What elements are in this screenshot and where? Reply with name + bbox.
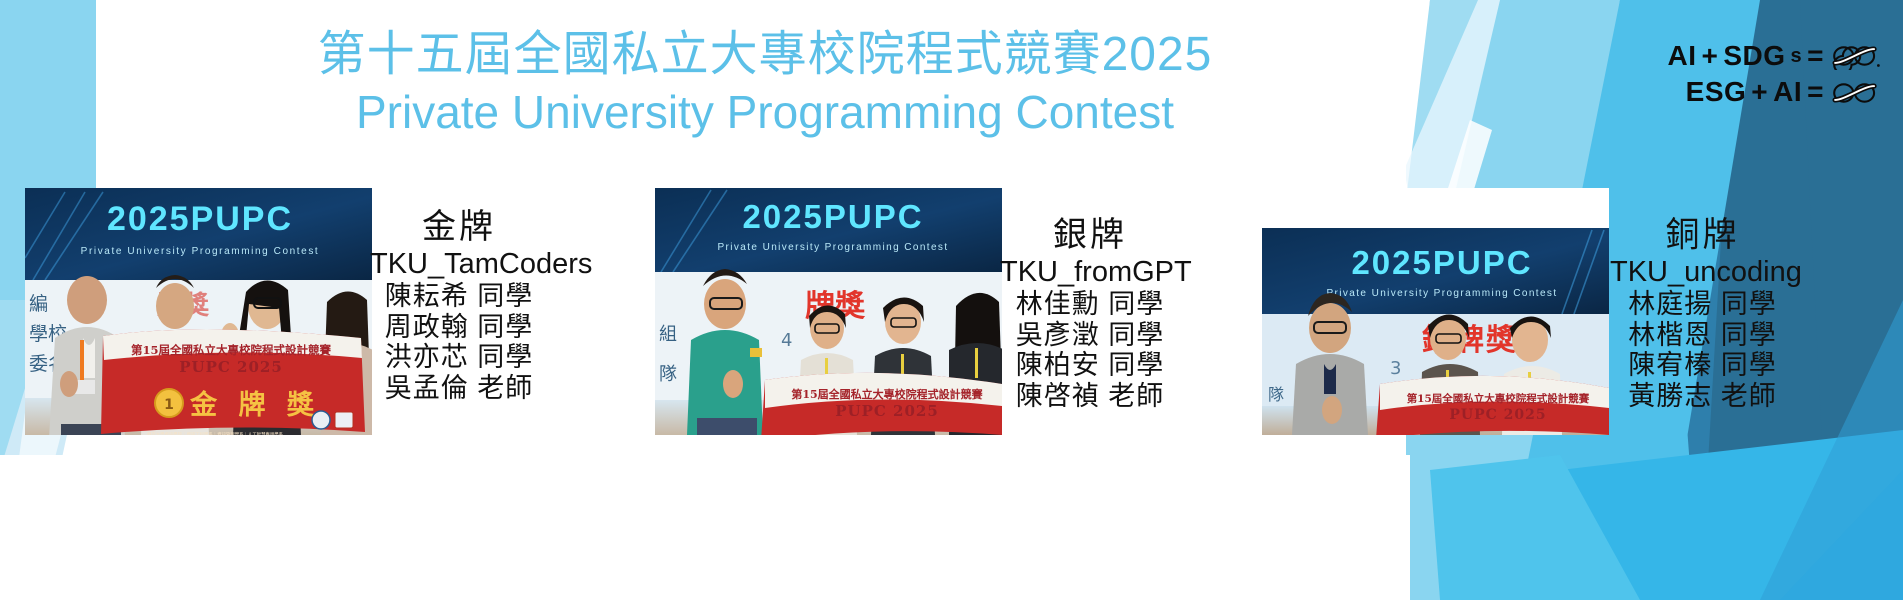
- award-photo-bronze: 2025PUPC Private University Programming …: [1262, 188, 1609, 435]
- photo-banner-bronze: 第15屆全國私立大專校院程式設計競賽 PUPC 2025: [1376, 376, 1609, 435]
- poster-canvas: 第十五屆全國私立大專校院程式競賽2025 Private University …: [0, 0, 1903, 600]
- member-name: 林楷恩 同學: [1610, 320, 1795, 351]
- medal-title-silver: 銀牌: [1000, 216, 1180, 255]
- logo-text-ai: AI: [1667, 38, 1696, 74]
- award-names-bronze: 銅牌 TKU_uncoding 林庭揚 同學 林楷恩 同學 陳宥榛 同學 黃勝志…: [1610, 216, 1795, 412]
- logo-plus-1: +: [1701, 38, 1718, 74]
- photo-backdrop-headline-bronze: 2025PUPC: [1351, 244, 1532, 281]
- logo-text-sdg-s: s: [1791, 43, 1803, 69]
- svg-text:4: 4: [781, 330, 792, 351]
- svg-text:PUPC 2025: PUPC 2025: [179, 358, 283, 376]
- photo-backdrop-subline-bronze: Private University Programming Contest: [1326, 288, 1557, 299]
- logo-equals-2: =: [1807, 74, 1824, 110]
- award-names-gold: 金牌 TKU_TamCoders 陳耘希 同學 周政翰 同學 洪亦芯 同學 吳孟…: [370, 208, 548, 404]
- svg-text:第15屆全國私立大專校院程式設計競賽: 第15屆全國私立大專校院程式設計競賽: [1407, 392, 1590, 405]
- ai-sdgs-logo: AI + SDG s = ESG + AI =: [1667, 38, 1881, 111]
- bg-bottom-white: [0, 455, 1410, 600]
- page-title-chinese: 第十五屆全國私立大專校院程式競賽2025: [300, 28, 1230, 82]
- award-photo-gold: 2025PUPC Private University Programming …: [25, 188, 372, 435]
- medal-title-gold: 金牌: [370, 208, 548, 247]
- photo-backdrop-subline-gold: Private University Programming Contest: [81, 246, 320, 257]
- award-names-silver: 銀牌 TKU_fromGPT 林佳勳 同學 吳彥澂 同學 陳柏安 同學 陳啓禎 …: [1000, 216, 1180, 412]
- svg-text:PUPC 2025: PUPC 2025: [835, 402, 939, 420]
- member-name: 林庭揚 同學: [1610, 289, 1795, 320]
- member-name: 林佳勳 同學: [1000, 289, 1180, 320]
- member-name: 吳彥澂 同學: [1000, 320, 1180, 351]
- logo-text-sdg: SDG: [1723, 38, 1785, 74]
- svg-text:金 牌 獎: 金 牌 獎: [189, 389, 320, 421]
- member-name: 陳啓禎 老師: [1000, 381, 1180, 412]
- logo-plus-2: +: [1751, 74, 1768, 110]
- logo-line-ai-sdgs: AI + SDG s =: [1667, 38, 1881, 74]
- svg-text:第15屆全國私立大專校院程式設計競賽: 第15屆全國私立大專校院程式設計競賽: [791, 387, 983, 401]
- logo-line-esg-ai: ESG + AI =: [1667, 74, 1881, 110]
- poster-title-block: 第十五屆全國私立大專校院程式競賽2025 Private University …: [300, 28, 1230, 139]
- photo-banner-silver: 第15屆全國私立大專校院程式設計競賽 PUPC 2025: [761, 373, 1002, 435]
- svg-text:編: 編: [29, 293, 48, 315]
- photo-backdrop-subline-silver: Private University Programming Contest: [717, 242, 948, 253]
- logo-equals-1: =: [1807, 38, 1824, 74]
- member-name: 周政翰 同學: [370, 312, 548, 343]
- infinity-icon: [1829, 42, 1881, 70]
- svg-text:3: 3: [1390, 358, 1401, 379]
- svg-text:隊: 隊: [659, 364, 677, 385]
- svg-text:隊: 隊: [1268, 385, 1284, 404]
- photo-backdrop-headline-gold: 2025PUPC: [107, 200, 293, 238]
- svg-text:組: 組: [659, 324, 677, 345]
- team-name-bronze: TKU_uncoding: [1610, 256, 1795, 289]
- page-title-english: Private University Programming Contest: [300, 86, 1230, 139]
- member-name: 吳孟倫 老師: [370, 373, 548, 404]
- award-photo-silver: 2025PUPC Private University Programming …: [655, 188, 1002, 435]
- member-name: 陳宥榛 同學: [1610, 350, 1795, 381]
- member-name: 陳柏安 同學: [1000, 350, 1180, 381]
- team-name-gold: TKU_TamCoders: [370, 248, 548, 281]
- svg-text:第15屆全國私立大專校院程式設計競賽: 第15屆全國私立大專校院程式設計競賽: [131, 343, 332, 357]
- member-name: 陳耘希 同學: [370, 281, 548, 312]
- photo-backdrop-headline-silver: 2025PUPC: [742, 198, 923, 235]
- photo-banner-gold: 第15屆全國私立大專校院程式設計競賽 PUPC 2025 1 金 牌 獎 靜宜大…: [101, 329, 365, 435]
- member-name: 黃勝志 老師: [1610, 381, 1795, 412]
- team-name-silver: TKU_fromGPT: [1000, 256, 1180, 289]
- logo-text-ai-2: AI: [1773, 74, 1802, 110]
- svg-text:PUPC 2025: PUPC 2025: [1449, 407, 1546, 423]
- infinity-icon: [1829, 79, 1881, 107]
- member-name: 洪亦芯 同學: [370, 342, 548, 373]
- svg-text:1: 1: [164, 397, 174, 413]
- logo-text-esg: ESG: [1686, 74, 1747, 110]
- medal-title-bronze: 銅牌: [1610, 216, 1795, 255]
